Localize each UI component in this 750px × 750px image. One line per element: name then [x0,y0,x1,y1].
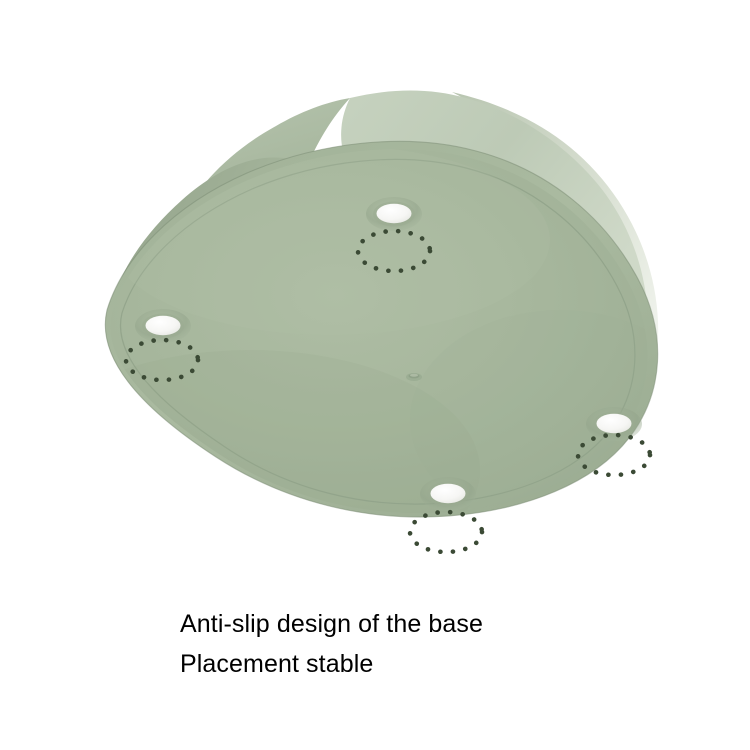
caption-line-2: Placement stable [180,644,700,684]
annotation-marker-pad-bottom [410,512,482,552]
caption-block: Anti-slip design of the base Placement s… [180,604,700,684]
anti-slip-pad-right [586,407,642,441]
anti-slip-pad-bottom [420,477,476,511]
anti-slip-pad-left [135,309,191,343]
center-dimple [406,373,422,381]
product-render [0,0,750,600]
caption-line-1: Anti-slip design of the base [180,604,700,644]
product-image-canvas: Anti-slip design of the base Placement s… [0,0,750,750]
anti-slip-pad-top [366,197,422,231]
